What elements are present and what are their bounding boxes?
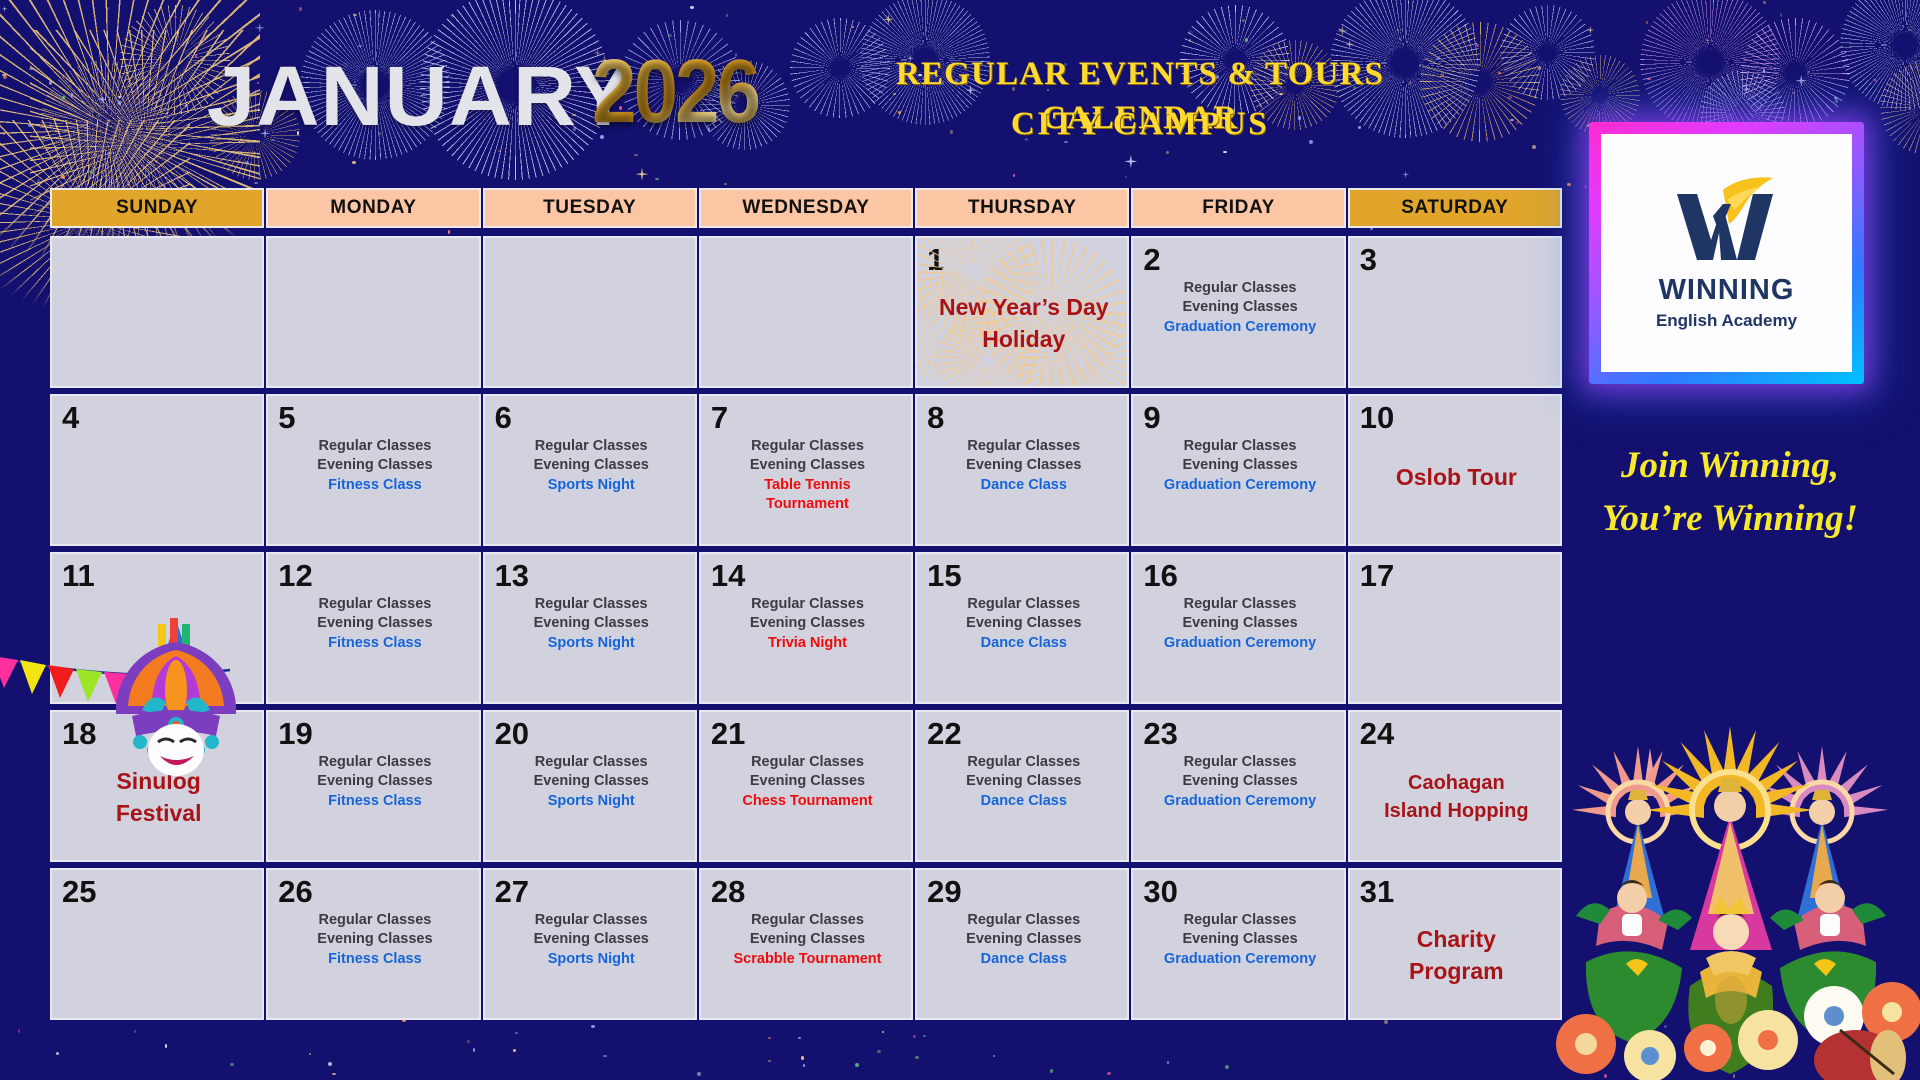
- event-item: Regular Classes: [929, 595, 1118, 614]
- day-number: 4: [62, 402, 255, 433]
- day-cell-empty: [266, 236, 480, 388]
- event-item: Regular Classes: [1145, 911, 1334, 930]
- weekday-header-tuesday: TUESDAY: [483, 188, 697, 228]
- calendar-header: JANUARY 2026 REGULAR EVENTS & TOURS CALE…: [0, 0, 1600, 190]
- day-cell-3[interactable]: 3: [1348, 236, 1562, 388]
- calendar: SUNDAYMONDAYTUESDAYWEDNESDAYTHURSDAYFRID…: [50, 188, 1562, 1020]
- winning-w-flame-icon: [1663, 176, 1791, 268]
- day-cell-empty: [699, 236, 913, 388]
- weekday-header-wednesday: WEDNESDAY: [699, 188, 913, 228]
- day-cell-7[interactable]: 7Regular ClassesEvening ClassesTable Ten…: [699, 394, 913, 546]
- special-event-line: Caohagan: [1360, 769, 1553, 797]
- day-cell-5[interactable]: 5Regular ClassesEvening ClassesFitness C…: [266, 394, 480, 546]
- event-item: Regular Classes: [929, 753, 1118, 772]
- event-item: Evening Classes: [713, 772, 902, 791]
- day-cell-22[interactable]: 22Regular ClassesEvening ClassesDance Cl…: [915, 710, 1129, 862]
- day-cell-empty: [483, 236, 697, 388]
- day-cell-25[interactable]: 25: [50, 868, 264, 1020]
- event-item: Regular Classes: [497, 437, 686, 456]
- event-item: Regular Classes: [1145, 279, 1334, 298]
- event-item: Fitness Class: [280, 634, 469, 653]
- event-item: Regular Classes: [713, 753, 902, 772]
- event-item: Graduation Ceremony: [1145, 634, 1334, 653]
- day-number: 23: [1143, 718, 1336, 749]
- day-cell-17[interactable]: 17: [1348, 552, 1562, 704]
- event-item: Sports Night: [497, 950, 686, 969]
- event-list: Regular ClassesEvening ClassesFitness Cl…: [278, 437, 471, 495]
- day-cell-empty: [50, 236, 264, 388]
- event-item: Scrabble Tournament: [713, 950, 902, 969]
- day-cell-30[interactable]: 30Regular ClassesEvening ClassesGraduati…: [1131, 868, 1345, 1020]
- event-item: Sports Night: [497, 634, 686, 653]
- day-cell-8[interactable]: 8Regular ClassesEvening ClassesDance Cla…: [915, 394, 1129, 546]
- calendar-week-row: 2526Regular ClassesEvening ClassesFitnes…: [50, 868, 1562, 1020]
- day-cell-13[interactable]: 13Regular ClassesEvening ClassesSports N…: [483, 552, 697, 704]
- day-cell-15[interactable]: 15Regular ClassesEvening ClassesDance Cl…: [915, 552, 1129, 704]
- event-list: Regular ClassesEvening ClassesDance Clas…: [927, 437, 1120, 495]
- event-item: Dance Class: [929, 634, 1118, 653]
- day-cell-26[interactable]: 26Regular ClassesEvening ClassesFitness …: [266, 868, 480, 1020]
- event-item: Sports Night: [497, 476, 686, 495]
- day-cell-19[interactable]: 19Regular ClassesEvening ClassesFitness …: [266, 710, 480, 862]
- day-number: 27: [495, 876, 688, 907]
- special-event-line: Holiday: [927, 323, 1120, 355]
- event-list: Regular ClassesEvening ClassesTable Tenn…: [711, 437, 904, 514]
- event-list: Regular ClassesEvening ClassesSports Nig…: [495, 911, 688, 969]
- event-item: Evening Classes: [280, 930, 469, 949]
- special-event-label: New Year’s DayHoliday: [927, 291, 1120, 355]
- event-item: Evening Classes: [497, 772, 686, 791]
- event-item: Evening Classes: [929, 456, 1118, 475]
- day-number: 5: [278, 402, 471, 433]
- event-list: Regular ClassesEvening ClassesChess Tour…: [711, 753, 904, 811]
- day-cell-14[interactable]: 14Regular ClassesEvening ClassesTrivia N…: [699, 552, 913, 704]
- event-item: Regular Classes: [497, 911, 686, 930]
- day-number: 29: [927, 876, 1120, 907]
- day-cell-31[interactable]: 31CharityProgram: [1348, 868, 1562, 1020]
- calendar-week-row: 1New Year’s DayHoliday2Regular ClassesEv…: [50, 236, 1562, 388]
- day-number: 10: [1360, 402, 1553, 433]
- tagline-line-1: Join Winning,: [1575, 440, 1885, 493]
- day-number: 19: [278, 718, 471, 749]
- event-item: Evening Classes: [929, 930, 1118, 949]
- sinulog-mask-icon: [96, 598, 256, 778]
- weekday-header-sunday: SUNDAY: [50, 188, 264, 228]
- day-cell-6[interactable]: 6Regular ClassesEvening ClassesSports Ni…: [483, 394, 697, 546]
- event-list: Regular ClassesEvening ClassesSports Nig…: [495, 753, 688, 811]
- day-number: 22: [927, 718, 1120, 749]
- event-item: Evening Classes: [497, 614, 686, 633]
- day-number: 6: [495, 402, 688, 433]
- event-item: Evening Classes: [713, 614, 902, 633]
- event-list: Regular ClassesEvening ClassesGraduation…: [1143, 279, 1336, 337]
- day-number: 16: [1143, 560, 1336, 591]
- event-list: Regular ClassesEvening ClassesFitness Cl…: [278, 595, 471, 653]
- event-item: Evening Classes: [1145, 456, 1334, 475]
- event-item: Regular Classes: [280, 595, 469, 614]
- day-number: 24: [1360, 718, 1553, 749]
- day-cell-20[interactable]: 20Regular ClassesEvening ClassesSports N…: [483, 710, 697, 862]
- event-item: Fitness Class: [280, 792, 469, 811]
- day-number: 26: [278, 876, 471, 907]
- event-list: Regular ClassesEvening ClassesGraduation…: [1143, 753, 1336, 811]
- special-event-label: Oslob Tour: [1360, 461, 1553, 493]
- event-list: Regular ClassesEvening ClassesDance Clas…: [927, 595, 1120, 653]
- calendar-grid: 1New Year’s DayHoliday2Regular ClassesEv…: [50, 236, 1562, 1020]
- day-number: 25: [62, 876, 255, 907]
- calendar-subtitle: CITY CAMPUS: [820, 106, 1460, 143]
- calendar-week-row: 18SinulogFestival19Regular ClassesEvenin…: [50, 710, 1562, 862]
- special-event-label: CaohaganIsland Hopping: [1360, 769, 1553, 825]
- day-number: 3: [1360, 244, 1553, 275]
- event-item: Regular Classes: [929, 911, 1118, 930]
- event-item: Dance Class: [929, 950, 1118, 969]
- weekday-header-friday: FRIDAY: [1131, 188, 1345, 228]
- event-list: Regular ClassesEvening ClassesGraduation…: [1143, 595, 1336, 653]
- special-event-line: New Year’s Day: [927, 291, 1120, 323]
- weekday-header-thursday: THURSDAY: [915, 188, 1129, 228]
- calendar-week-row: 45Regular ClassesEvening ClassesFitness …: [50, 394, 1562, 546]
- event-item: Sports Night: [497, 792, 686, 811]
- event-list: Regular ClassesEvening ClassesTrivia Nig…: [711, 595, 904, 653]
- event-item: Graduation Ceremony: [1145, 950, 1334, 969]
- day-cell-21[interactable]: 21Regular ClassesEvening ClassesChess To…: [699, 710, 913, 862]
- event-item: Regular Classes: [497, 595, 686, 614]
- event-list: Regular ClassesEvening ClassesFitness Cl…: [278, 753, 471, 811]
- day-cell-27[interactable]: 27Regular ClassesEvening ClassesSports N…: [483, 868, 697, 1020]
- day-cell-9[interactable]: 9Regular ClassesEvening ClassesGraduatio…: [1131, 394, 1345, 546]
- special-event-line: Oslob Tour: [1360, 461, 1553, 493]
- day-cell-16[interactable]: 16Regular ClassesEvening ClassesGraduati…: [1131, 552, 1345, 704]
- tagline: Join Winning, You’re Winning!: [1575, 440, 1885, 545]
- event-item: Dance Class: [929, 476, 1118, 495]
- event-item: Regular Classes: [713, 437, 902, 456]
- day-cell-10[interactable]: 10Oslob Tour: [1348, 394, 1562, 546]
- event-list: Regular ClassesEvening ClassesScrabble T…: [711, 911, 904, 969]
- weekday-header-saturday: SATURDAY: [1348, 188, 1562, 228]
- event-item: Fitness Class: [280, 476, 469, 495]
- event-item: Evening Classes: [497, 456, 686, 475]
- day-number: 7: [711, 402, 904, 433]
- day-number: 14: [711, 560, 904, 591]
- event-item: Graduation Ceremony: [1145, 476, 1334, 495]
- event-item: Regular Classes: [280, 437, 469, 456]
- event-list: Regular ClassesEvening ClassesGraduation…: [1143, 911, 1336, 969]
- event-item: Chess Tournament: [713, 792, 902, 811]
- day-number: 1: [927, 244, 1120, 275]
- event-item: Evening Classes: [280, 772, 469, 791]
- event-list: Regular ClassesEvening ClassesDance Clas…: [927, 911, 1120, 969]
- event-item: Evening Classes: [280, 614, 469, 633]
- event-item: Trivia Night: [713, 634, 902, 653]
- event-item: Regular Classes: [1145, 595, 1334, 614]
- day-number: 17: [1360, 560, 1553, 591]
- logo-subtitle: English Academy: [1656, 311, 1797, 331]
- day-cell-4[interactable]: 4: [50, 394, 264, 546]
- event-item: Evening Classes: [713, 930, 902, 949]
- event-item: Table Tennis: [713, 476, 902, 495]
- special-event-line: Island Hopping: [1360, 797, 1553, 825]
- day-number: 30: [1143, 876, 1336, 907]
- day-number: 20: [495, 718, 688, 749]
- event-list: Regular ClassesEvening ClassesFitness Cl…: [278, 911, 471, 969]
- day-number: 9: [1143, 402, 1336, 433]
- day-number: 28: [711, 876, 904, 907]
- special-event-label: CharityProgram: [1360, 923, 1553, 987]
- event-item: Regular Classes: [713, 911, 902, 930]
- special-event-line: Program: [1360, 955, 1553, 987]
- event-item: Tournament: [713, 495, 902, 514]
- day-cell-29[interactable]: 29Regular ClassesEvening ClassesDance Cl…: [915, 868, 1129, 1020]
- event-item: Evening Classes: [929, 614, 1118, 633]
- event-item: Evening Classes: [1145, 772, 1334, 791]
- day-cell-28[interactable]: 28Regular ClassesEvening ClassesScrabble…: [699, 868, 913, 1020]
- event-list: Regular ClassesEvening ClassesSports Nig…: [495, 437, 688, 495]
- year-balloons: 2026: [592, 40, 758, 143]
- event-item: Regular Classes: [280, 911, 469, 930]
- day-cell-12[interactable]: 12Regular ClassesEvening ClassesFitness …: [266, 552, 480, 704]
- academy-logo-frame: WINNING English Academy: [1589, 122, 1864, 384]
- weekday-header-row: SUNDAYMONDAYTUESDAYWEDNESDAYTHURSDAYFRID…: [50, 188, 1562, 228]
- weekday-header-monday: MONDAY: [266, 188, 480, 228]
- academy-logo: WINNING English Academy: [1601, 134, 1852, 372]
- special-event-line: Charity: [1360, 923, 1553, 955]
- event-item: Regular Classes: [1145, 753, 1334, 772]
- event-item: Evening Classes: [497, 930, 686, 949]
- event-item: Graduation Ceremony: [1145, 318, 1334, 337]
- event-item: Regular Classes: [713, 595, 902, 614]
- event-item: Evening Classes: [929, 772, 1118, 791]
- tagline-line-2: You’re Winning!: [1575, 493, 1885, 546]
- event-item: Evening Classes: [1145, 614, 1334, 633]
- day-number: 15: [927, 560, 1120, 591]
- day-number: 21: [711, 718, 904, 749]
- event-item: Graduation Ceremony: [1145, 792, 1334, 811]
- event-item: Evening Classes: [1145, 930, 1334, 949]
- day-cell-23[interactable]: 23Regular ClassesEvening ClassesGraduati…: [1131, 710, 1345, 862]
- event-item: Dance Class: [929, 792, 1118, 811]
- event-item: Regular Classes: [929, 437, 1118, 456]
- event-list: Regular ClassesEvening ClassesGraduation…: [1143, 437, 1336, 495]
- logo-name: WINNING: [1659, 276, 1795, 305]
- event-item: Evening Classes: [713, 456, 902, 475]
- day-cell-1[interactable]: 1New Year’s DayHoliday: [915, 236, 1129, 388]
- day-number: 31: [1360, 876, 1553, 907]
- day-number: 12: [278, 560, 471, 591]
- event-item: Regular Classes: [280, 753, 469, 772]
- page-title: JANUARY: [207, 48, 633, 145]
- event-item: Regular Classes: [497, 753, 686, 772]
- day-cell-24[interactable]: 24CaohaganIsland Hopping: [1348, 710, 1562, 862]
- day-number: 13: [495, 560, 688, 591]
- special-event-line: Festival: [62, 797, 255, 829]
- day-number: 11: [62, 560, 255, 591]
- calendar-week-row: 1112Regular ClassesEvening ClassesFitnes…: [50, 552, 1562, 704]
- event-list: Regular ClassesEvening ClassesDance Clas…: [927, 753, 1120, 811]
- event-item: Fitness Class: [280, 950, 469, 969]
- day-number: 8: [927, 402, 1120, 433]
- event-item: Evening Classes: [280, 456, 469, 475]
- event-item: Regular Classes: [1145, 437, 1334, 456]
- event-item: Evening Classes: [1145, 298, 1334, 317]
- day-cell-2[interactable]: 2Regular ClassesEvening ClassesGraduatio…: [1131, 236, 1345, 388]
- event-list: Regular ClassesEvening ClassesSports Nig…: [495, 595, 688, 653]
- day-number: 2: [1143, 244, 1336, 275]
- sinulog-festival-illustration: [1540, 700, 1920, 1080]
